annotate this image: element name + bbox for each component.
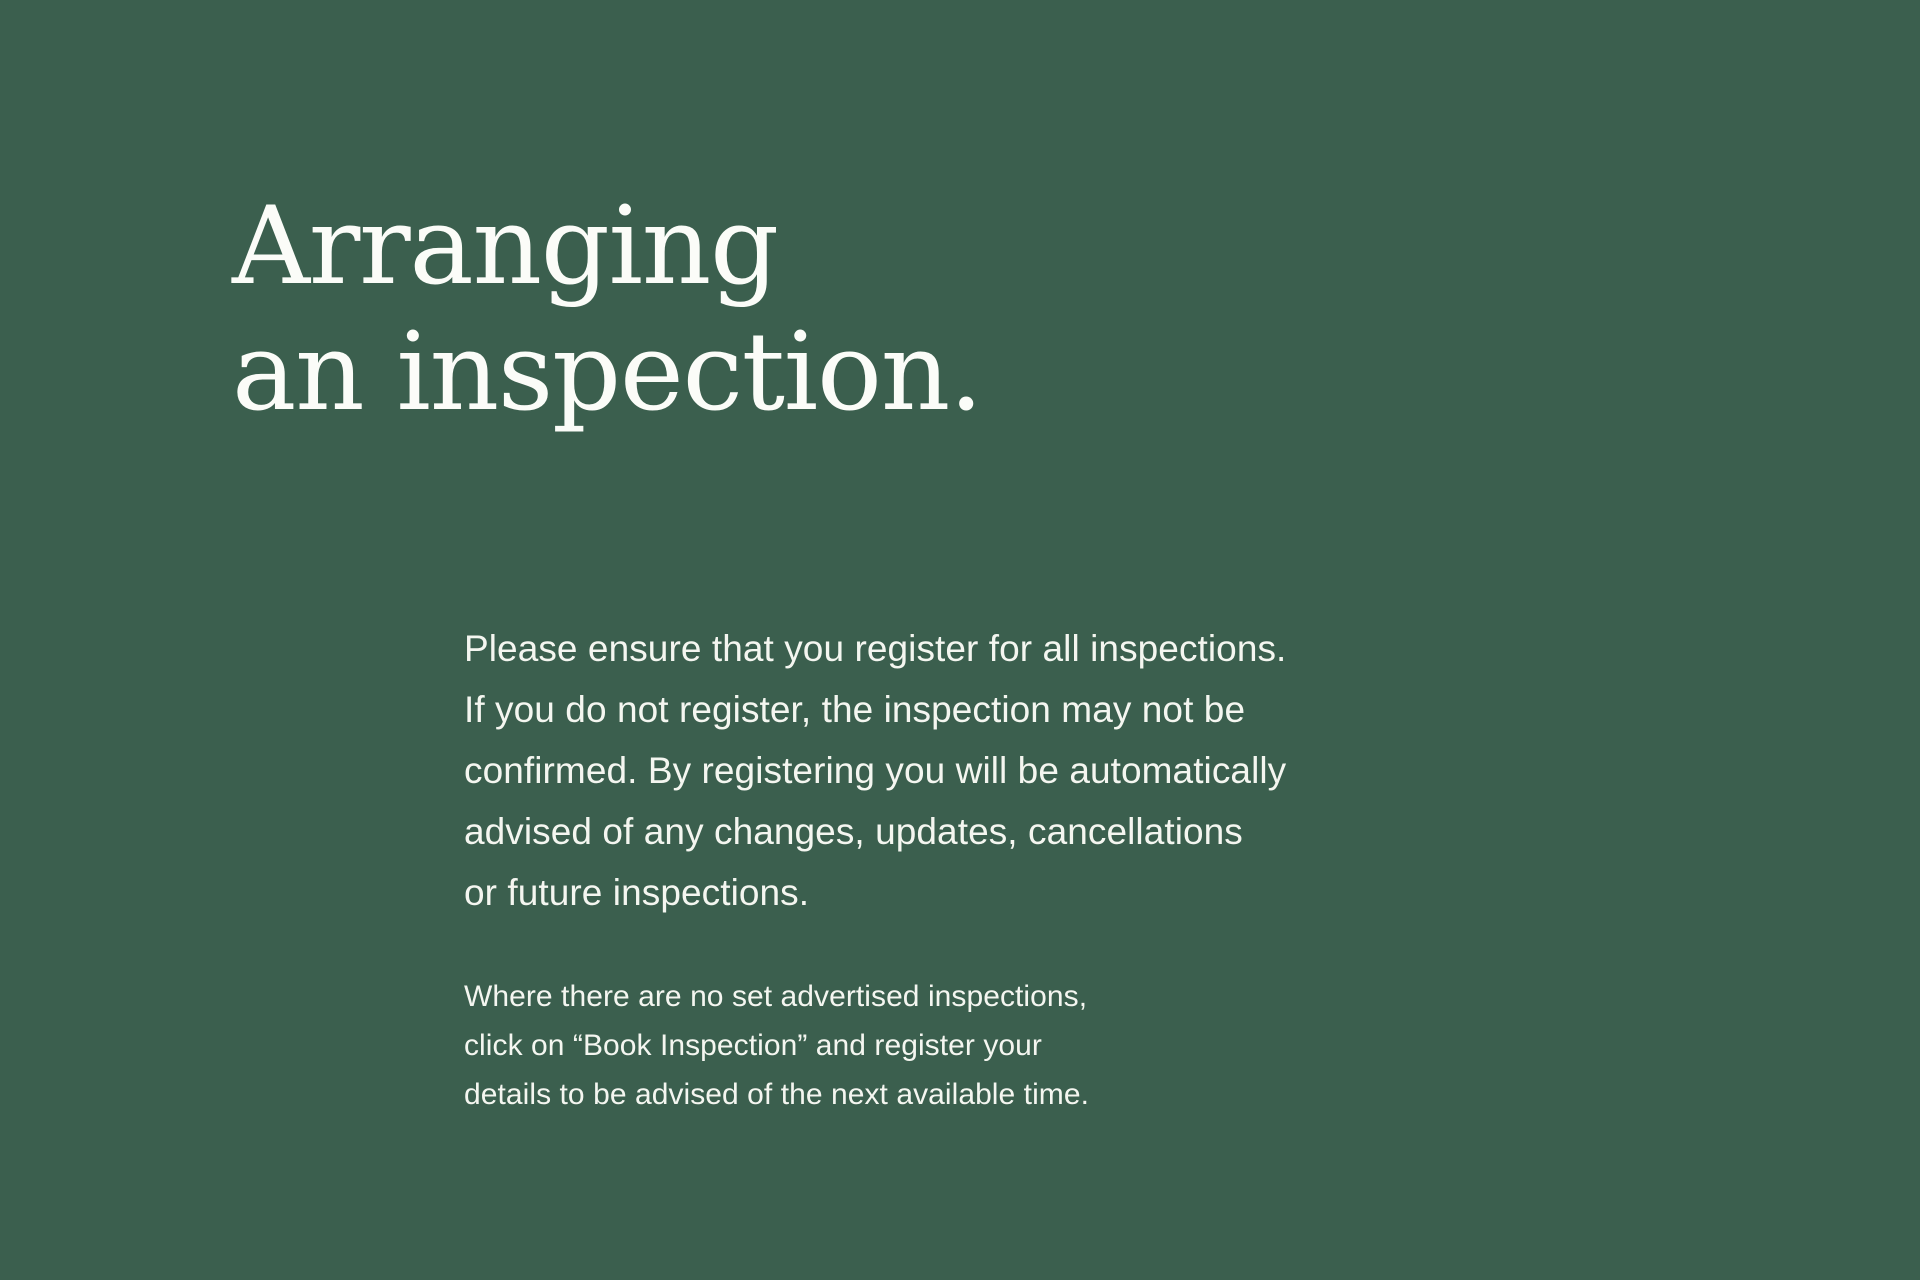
registration-paragraph-line-4: advised of any changes, updates, cancell… <box>464 801 1684 862</box>
book-inspection-paragraph-line-3: details to be advised of the next availa… <box>464 1070 1684 1119</box>
page-title-line-2: an inspection. <box>232 312 1532 434</box>
registration-paragraph-line-2: If you do not register, the inspection m… <box>464 679 1684 740</box>
registration-paragraph-line-1: Please ensure that you register for all … <box>464 618 1684 679</box>
body-copy: Please ensure that you register for all … <box>464 618 1684 1119</box>
registration-paragraph-line-3: confirmed. By registering you will be au… <box>464 740 1684 801</box>
registration-paragraph-line-5: or future inspections. <box>464 862 1684 923</box>
book-inspection-paragraph-line-1: Where there are no set advertised inspec… <box>464 972 1684 1021</box>
page-title: Arranging an inspection. <box>232 186 1532 434</box>
book-inspection-paragraph-line-2: click on “Book Inspection” and register … <box>464 1021 1684 1070</box>
slide-root: Arranging an inspection. Please ensure t… <box>0 0 1920 1280</box>
page-title-line-1: Arranging <box>232 186 1532 308</box>
book-inspection-paragraph: Where there are no set advertised inspec… <box>464 972 1684 1119</box>
registration-paragraph: Please ensure that you register for all … <box>464 618 1684 923</box>
